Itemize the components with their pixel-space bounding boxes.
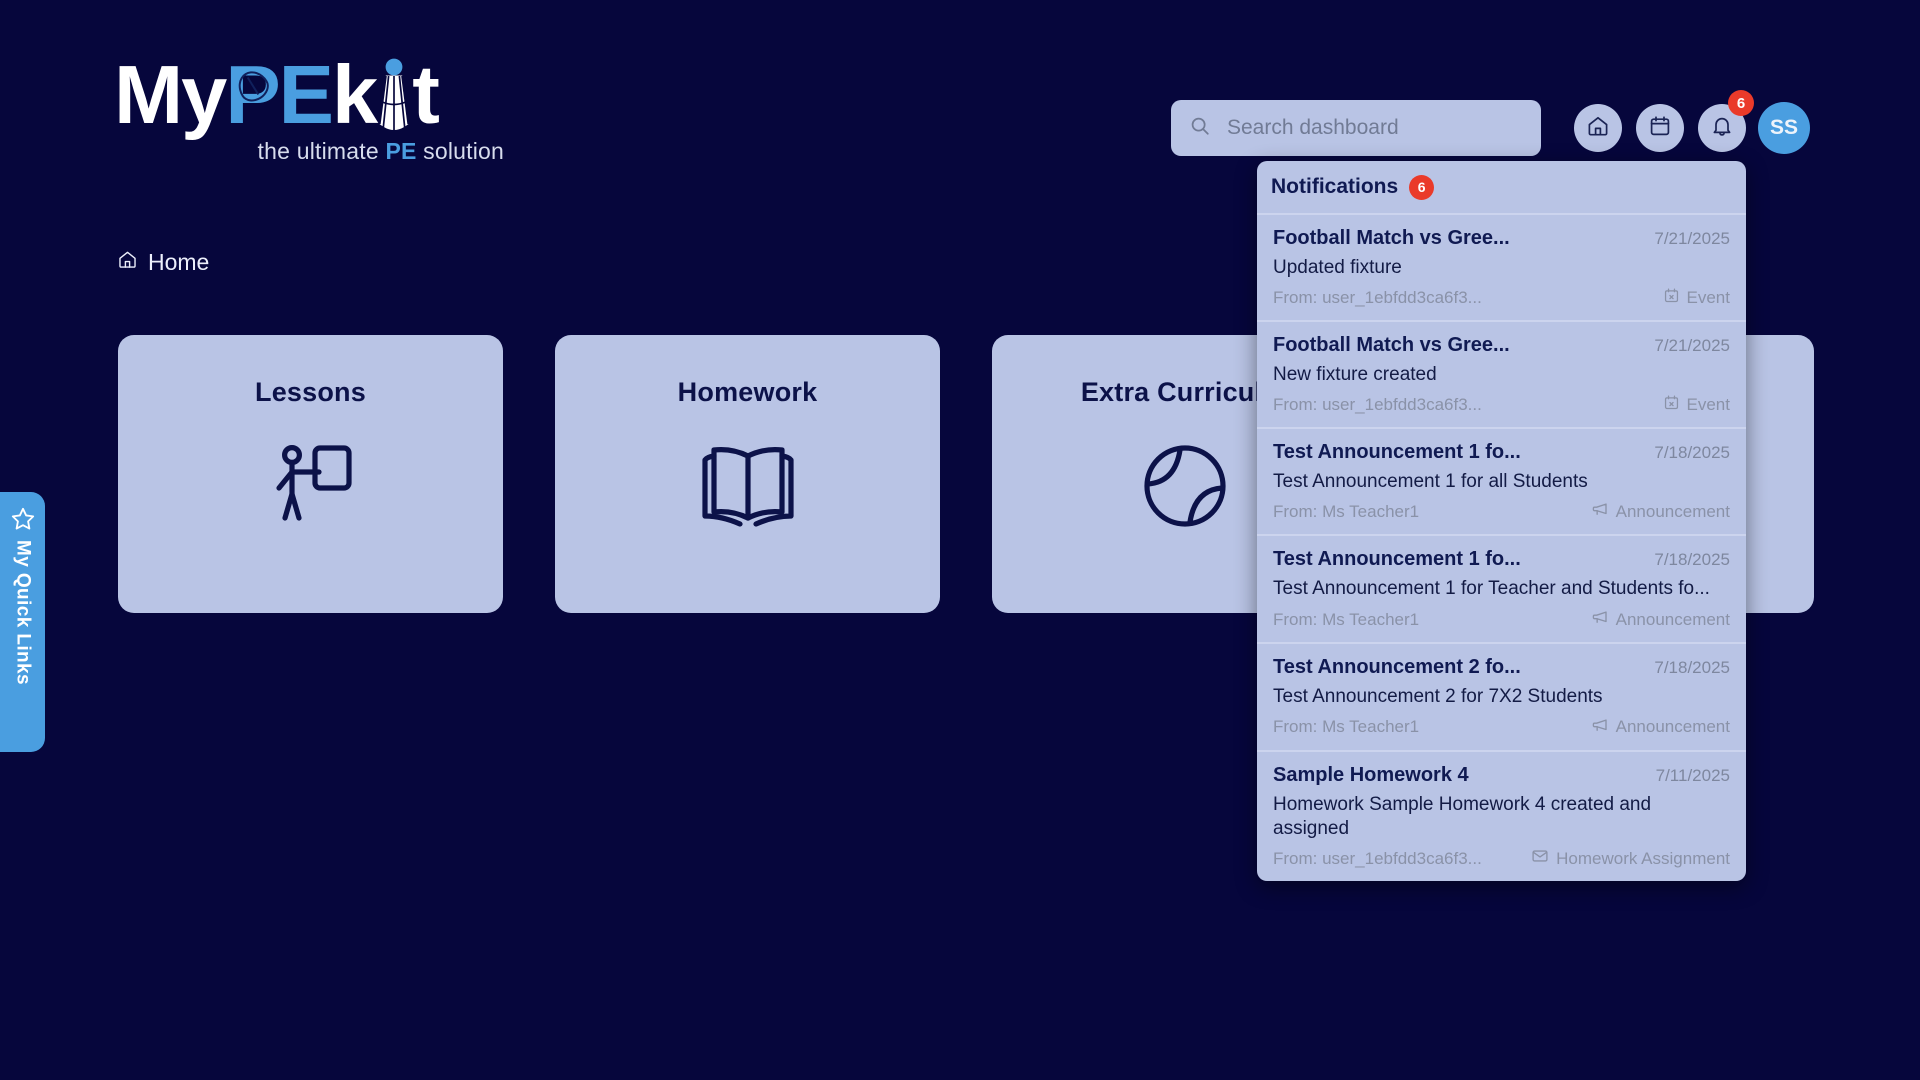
notification-date: 7/18/2025 <box>1654 443 1730 463</box>
notification-item[interactable]: Test Announcement 1 fo... 7/18/2025 Test… <box>1257 429 1746 537</box>
notification-item[interactable]: Football Match vs Gree... 7/21/2025 New … <box>1257 322 1746 429</box>
notification-type: Event <box>1663 287 1730 309</box>
notification-body: Test Announcement 1 for Teacher and Stud… <box>1273 577 1730 601</box>
logo-k: k <box>332 55 376 135</box>
header-home-button[interactable] <box>1574 104 1622 152</box>
notification-title: Sample Homework 4 <box>1273 764 1469 787</box>
megaphone-icon <box>1591 716 1609 739</box>
logo-wordmark: My PE k <box>114 55 504 136</box>
notification-item[interactable]: Sample Homework 4 7/11/2025 Homework Sam… <box>1257 752 1746 882</box>
notification-title: Test Announcement 2 fo... <box>1273 656 1521 679</box>
breadcrumb-label: Home <box>148 249 209 276</box>
notification-type: Announcement <box>1591 500 1730 523</box>
search-input[interactable]: Search dashboard <box>1171 100 1541 156</box>
notification-from: From: user_1ebfdd3ca6f3... <box>1273 849 1482 869</box>
notification-body: New fixture created <box>1273 363 1730 387</box>
my-quick-links-label: My Quick Links <box>12 540 34 685</box>
shuttlecock-icon <box>374 58 414 136</box>
notification-body: Homework Sample Homework 4 created and a… <box>1273 793 1730 841</box>
notification-body: Test Announcement 1 for all Students <box>1273 470 1730 494</box>
notification-type: Announcement <box>1591 608 1730 631</box>
card-title: Homework <box>678 377 818 408</box>
teacher-whiteboard-icon <box>267 442 355 539</box>
open-book-icon <box>700 442 796 535</box>
notification-body: Test Announcement 2 for 7X2 Students <box>1273 685 1730 709</box>
avatar[interactable]: SS <box>1758 102 1810 154</box>
bell-icon <box>1710 114 1734 143</box>
notification-date: 7/21/2025 <box>1654 336 1730 356</box>
breadcrumb[interactable]: Home <box>117 249 209 276</box>
notification-item[interactable]: Test Announcement 1 fo... 7/18/2025 Test… <box>1257 536 1746 644</box>
notification-type: Event <box>1663 394 1730 416</box>
card-lessons[interactable]: Lessons <box>118 335 503 613</box>
notification-item[interactable]: Football Match vs Gree... 7/21/2025 Upda… <box>1257 215 1746 322</box>
notification-body: Updated fixture <box>1273 256 1730 280</box>
notification-title: Test Announcement 1 fo... <box>1273 441 1521 464</box>
notification-date: 7/21/2025 <box>1654 229 1730 249</box>
notification-from: From: Ms Teacher1 <box>1273 610 1419 630</box>
notifications-count-badge: 6 <box>1409 175 1434 200</box>
notifications-list[interactable]: Football Match vs Gree... 7/21/2025 Upda… <box>1257 215 1746 881</box>
logo[interactable]: My PE k <box>114 55 504 165</box>
logo-my: My <box>114 55 225 135</box>
notifications-title: Notifications <box>1271 175 1398 199</box>
notification-from: From: Ms Teacher1 <box>1273 502 1419 522</box>
notification-title: Football Match vs Gree... <box>1273 334 1510 357</box>
envelope-icon <box>1531 847 1549 870</box>
calendar-x-icon <box>1663 394 1680 416</box>
notification-type: Announcement <box>1591 716 1730 739</box>
calendar-x-icon <box>1663 287 1680 309</box>
search-placeholder: Search dashboard <box>1227 116 1399 140</box>
sports-ball-icon <box>1141 442 1229 535</box>
notification-count-badge: 6 <box>1728 90 1754 116</box>
notification-title: Football Match vs Gree... <box>1273 227 1510 250</box>
logo-pe: PE <box>225 55 332 135</box>
notification-date: 7/18/2025 <box>1654 550 1730 570</box>
home-icon <box>1586 114 1610 143</box>
home-icon <box>117 249 138 276</box>
notifications-panel: Notifications 6 Football Match vs Gree..… <box>1257 161 1746 881</box>
my-quick-links-tab[interactable]: My Quick Links <box>0 492 45 752</box>
search-icon <box>1189 115 1211 142</box>
notification-from: From: user_1ebfdd3ca6f3... <box>1273 395 1482 415</box>
calendar-icon <box>1648 114 1672 143</box>
header-calendar-button[interactable] <box>1636 104 1684 152</box>
megaphone-icon <box>1591 608 1609 631</box>
notification-title: Test Announcement 1 fo... <box>1273 548 1521 571</box>
notifications-header: Notifications 6 <box>1257 161 1746 215</box>
card-homework[interactable]: Homework <box>555 335 940 613</box>
star-icon <box>10 506 36 532</box>
notification-date: 7/18/2025 <box>1654 658 1730 678</box>
notification-from: From: user_1ebfdd3ca6f3... <box>1273 288 1482 308</box>
notification-type: Homework Assignment <box>1531 847 1730 870</box>
logo-t: t <box>412 55 438 135</box>
dashboard-page: My Quick Links My PE k <box>0 0 1920 1080</box>
card-title: Lessons <box>255 377 366 408</box>
notification-from: From: Ms Teacher1 <box>1273 717 1419 737</box>
megaphone-icon <box>1591 500 1609 523</box>
notification-item[interactable]: Test Announcement 2 fo... 7/18/2025 Test… <box>1257 644 1746 752</box>
logo-tagline: the ultimate PE solution <box>114 138 504 165</box>
notification-date: 7/11/2025 <box>1656 766 1730 786</box>
